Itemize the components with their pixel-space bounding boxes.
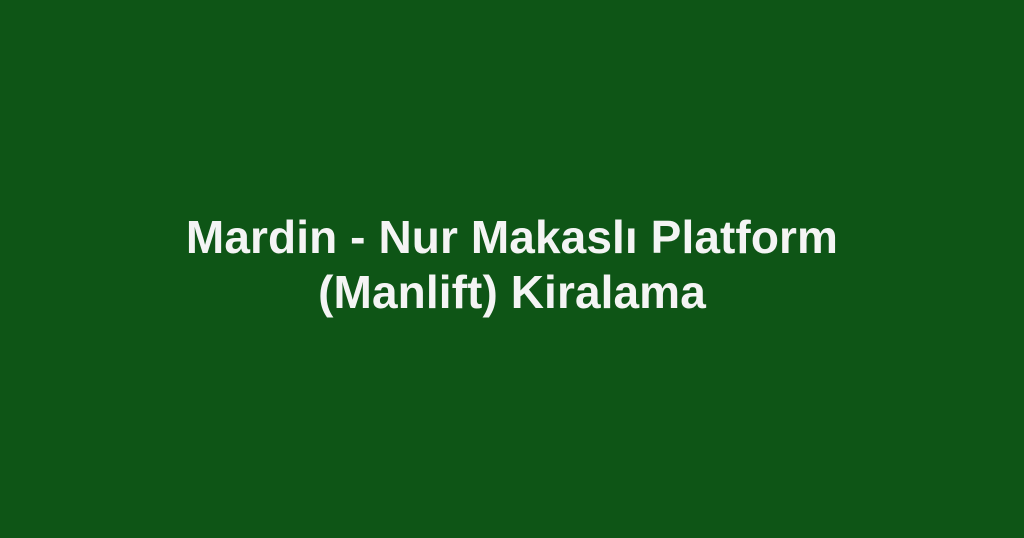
share-card: Mardin - Nur Makaslı Platform (Manlift) …	[0, 0, 1024, 538]
headline-block: Mardin - Nur Makaslı Platform (Manlift) …	[0, 210, 1024, 320]
page-title: Mardin - Nur Makaslı Platform (Manlift) …	[40, 210, 984, 320]
